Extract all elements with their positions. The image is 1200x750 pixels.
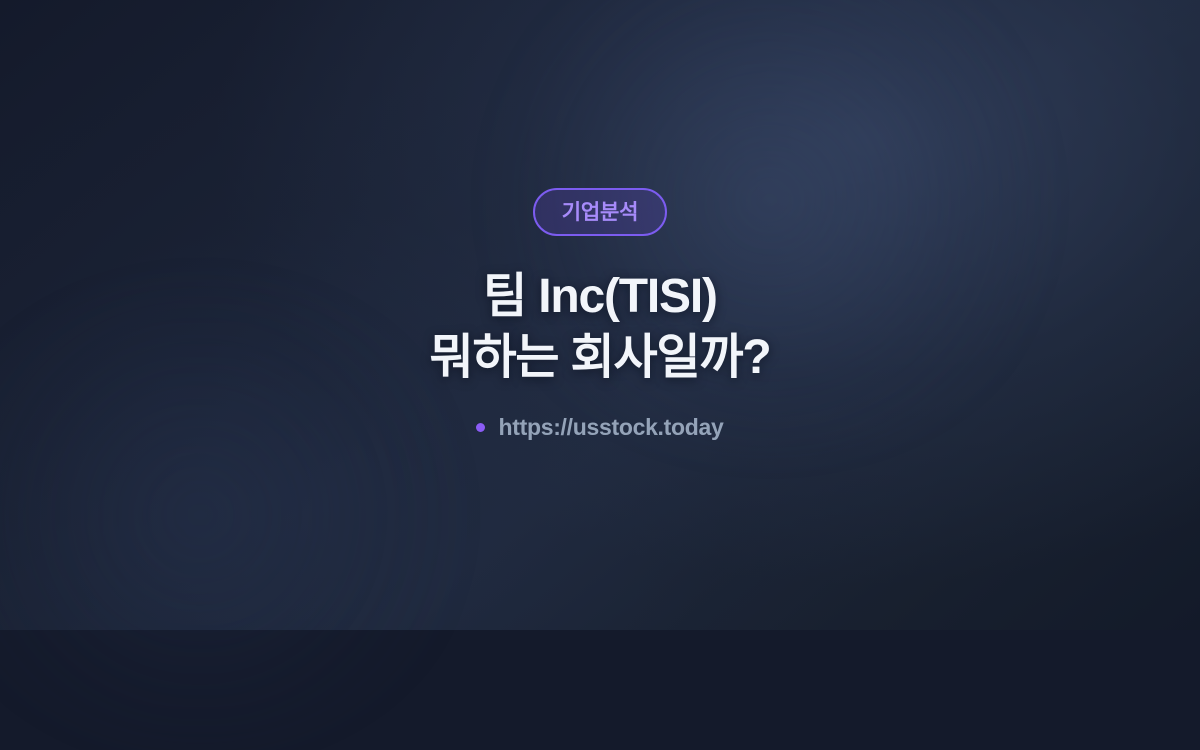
category-badge-label: 기업분석 [562, 202, 638, 223]
site-url-row: https://usstock.today [476, 416, 723, 439]
headline-block: 팀 Inc(TISI) 뭐하는 회사일까? [430, 266, 771, 388]
og-share-card: 기업분석 팀 Inc(TISI) 뭐하는 회사일까? https://ussto… [0, 0, 1200, 630]
headline-line-1: 팀 Inc(TISI) [483, 266, 717, 327]
category-badge: 기업분석 [533, 188, 667, 236]
headline-line-2: 뭐하는 회사일까? [430, 327, 771, 388]
bullet-dot-icon [476, 423, 485, 432]
card-content: 기업분석 팀 Inc(TISI) 뭐하는 회사일까? https://ussto… [0, 0, 1200, 630]
site-url-text: https://usstock.today [498, 416, 723, 439]
